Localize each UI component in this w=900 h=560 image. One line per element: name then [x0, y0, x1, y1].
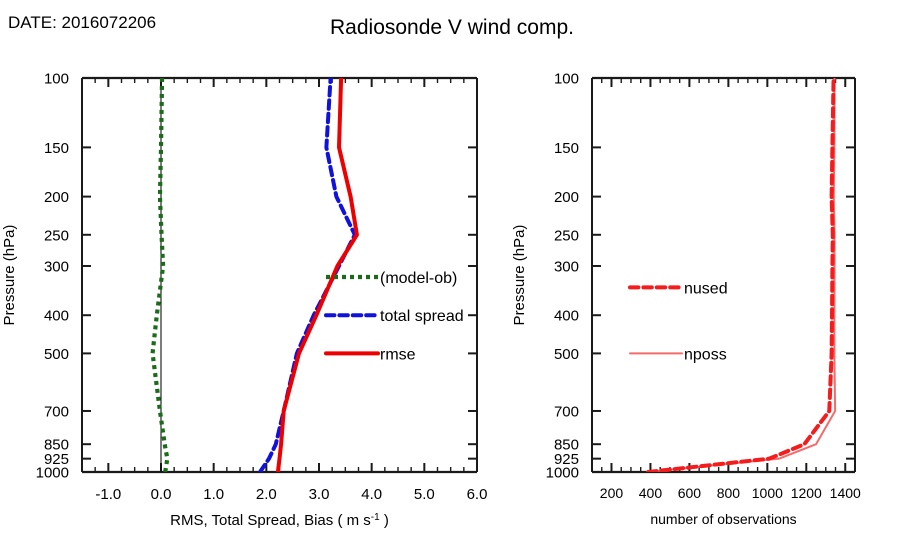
y-tick-label: 400 — [554, 308, 579, 325]
x-axis-title: number of observations — [650, 511, 796, 527]
y-tick-label: 100 — [44, 71, 69, 88]
series-line-nposs — [647, 78, 835, 472]
y-tick-label: 700 — [554, 403, 579, 420]
figure-canvas: DATE: 2016072206Radiosonde V wind comp.-… — [0, 0, 900, 560]
x-tick-label: 1400 — [830, 485, 861, 501]
x-tick-label: 400 — [639, 485, 663, 501]
date-label: DATE: 2016072206 — [8, 13, 156, 32]
y-tick-label: 400 — [44, 308, 69, 325]
legend-label: nposs — [684, 346, 727, 363]
y-tick-label: 1000 — [546, 465, 579, 482]
x-tick-label: 1000 — [752, 485, 783, 501]
x-tick-label: -1.0 — [95, 486, 121, 503]
radiosonde-verification-figure: DATE: 2016072206Radiosonde V wind comp.-… — [0, 0, 900, 560]
x-tick-label: 4.0 — [361, 486, 382, 503]
y-axis-title: Pressure (hPa) — [1, 225, 18, 326]
x-tick-label: 5.0 — [414, 486, 435, 503]
x-tick-label: 800 — [717, 485, 741, 501]
x-tick-label: 6.0 — [467, 486, 488, 503]
x-tick-label: 2.0 — [256, 486, 277, 503]
x-tick-label: 1.0 — [203, 486, 224, 503]
x-tick-label: 1200 — [791, 485, 822, 501]
y-axis-title: Pressure (hPa) — [511, 225, 528, 326]
x-axis-title: RMS, Total Spread, Bias ( m s-1 ) — [170, 512, 389, 530]
y-tick-label: 200 — [554, 189, 579, 206]
y-tick-label: 700 — [44, 403, 69, 420]
y-tick-label: 150 — [44, 140, 69, 157]
y-tick-label: 250 — [554, 227, 579, 244]
y-tick-label: 200 — [44, 189, 69, 206]
x-tick-label: 200 — [600, 485, 624, 501]
x-tick-label: 600 — [678, 485, 702, 501]
y-tick-label: 500 — [44, 346, 69, 363]
legend-label: total spread — [380, 308, 464, 325]
y-tick-label: 250 — [44, 227, 69, 244]
y-tick-label: 500 — [554, 346, 579, 363]
series-line-modelob — [153, 78, 168, 472]
x-tick-label: 3.0 — [309, 486, 330, 503]
y-tick-label: 300 — [44, 258, 69, 275]
legend-label: rmse — [380, 346, 416, 363]
page-title: Radiosonde V wind comp. — [330, 16, 574, 39]
legend-label: nused — [684, 280, 728, 297]
x-tick-label: 0.0 — [151, 486, 172, 503]
legend-label: (model-ob) — [380, 270, 457, 287]
y-tick-label: 150 — [554, 140, 579, 157]
y-tick-label: 100 — [554, 71, 579, 88]
y-tick-label: 300 — [554, 258, 579, 275]
series-line-nused — [648, 78, 833, 472]
y-tick-label: 1000 — [36, 465, 69, 482]
